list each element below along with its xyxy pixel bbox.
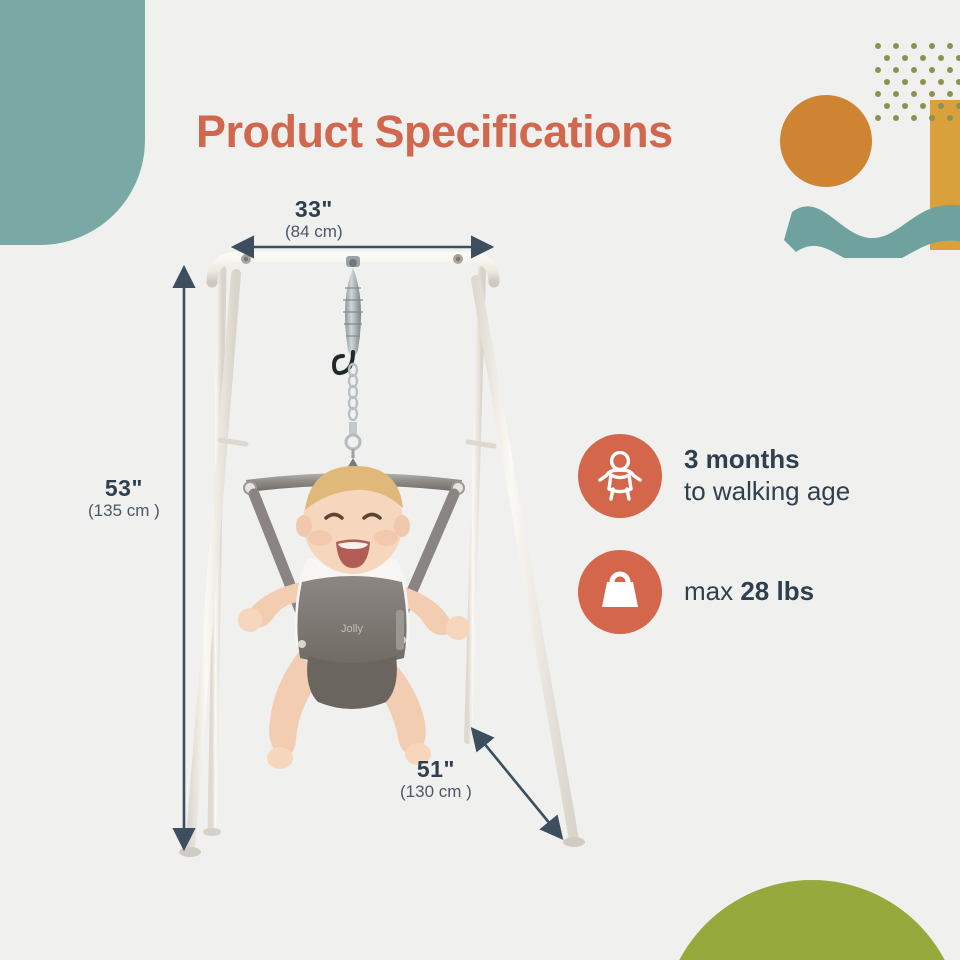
feature-weight-prefix: max [684,576,740,606]
dimension-label-width: 33" (84 cm) [285,197,343,244]
feature-age: 3 months to walking age [578,430,850,522]
feature-text-weight: max 28 lbs [684,576,814,608]
feature-badge-weight [578,550,662,634]
weight-icon [598,569,642,615]
feature-age-line1: 3 months [684,444,800,474]
dimension-value-width: 33" [285,197,343,221]
teal-wave [782,196,960,258]
page-title: Product Specifications [196,106,673,158]
teal-rounded-corner [0,0,145,245]
dimension-metric-height: (135 cm ) [88,500,160,523]
svg-text:Jolly: Jolly [341,623,364,635]
product-image: Jolly [150,230,590,870]
feature-age-line2: to walking age [684,476,850,506]
orange-circle [780,95,872,187]
feature-weight-value: 28 lbs [740,576,814,606]
feature-weight: max 28 lbs [578,546,850,638]
feature-list: 3 months to walking age max 28 lbs [578,430,850,662]
dimension-metric-width: (84 cm) [285,221,343,244]
baby-icon [597,451,643,501]
dimension-metric-depth: (130 cm ) [400,781,472,804]
feature-text-age: 3 months to walking age [684,444,850,507]
dimension-label-height: 53" (135 cm ) [88,476,160,523]
dimension-value-height: 53" [88,476,160,500]
dimension-value-depth: 51" [400,757,472,781]
olive-green-circle [662,880,960,960]
olive-dot-grid [874,42,960,130]
dimension-label-depth: 51" (130 cm ) [400,757,472,804]
product-specifications-infographic: Product Specifications [0,0,960,960]
feature-badge-age [578,434,662,518]
